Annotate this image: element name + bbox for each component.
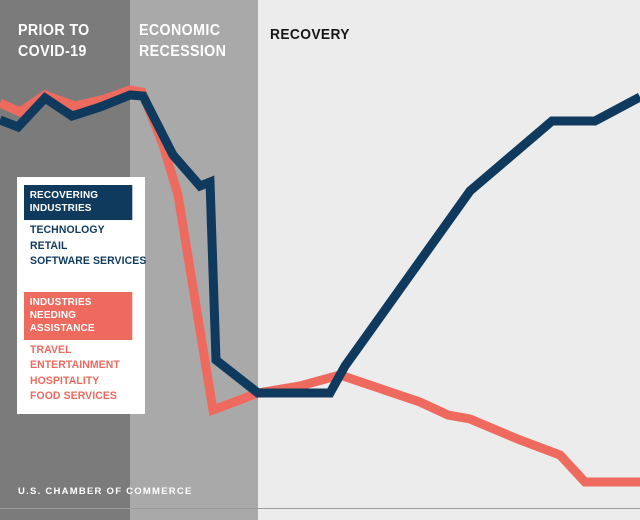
legend-item-hospitality: HOSPITALITY bbox=[30, 374, 133, 390]
legend-heading-industries-needing-assistance: INDUSTRIES NEEDING ASSISTANCE bbox=[24, 292, 132, 340]
legend-item-technology: TECHNOLOGY bbox=[30, 223, 133, 239]
legend-item-software-services: SOFTWARE SERVICES bbox=[30, 254, 133, 270]
legend-list-recovering-industries: TECHNOLOGY RETAIL SOFTWARE SERVICES bbox=[24, 220, 138, 270]
legend-item-travel: TRAVEL bbox=[30, 343, 133, 359]
baseline-rule bbox=[0, 508, 640, 509]
chart-canvas: PRIOR TO COVID-19 ECONOMIC RECESSION REC… bbox=[0, 0, 640, 520]
source-credit: U.S. CHAMBER OF COMMERCE bbox=[18, 486, 193, 497]
legend-heading-recovering-industries: RECOVERING INDUSTRIES bbox=[24, 185, 132, 220]
legend-list-industries-needing-assistance: TRAVEL ENTERTAINMENT HOSPITALITY FOOD SE… bbox=[24, 340, 138, 405]
legend-item-food-services: FOOD SERVICES bbox=[30, 389, 133, 405]
legend-item-retail: RETAIL bbox=[30, 239, 133, 255]
legend-spacer bbox=[24, 270, 138, 292]
legend: RECOVERING INDUSTRIES TECHNOLOGY RETAIL … bbox=[17, 177, 145, 414]
legend-item-entertainment: ENTERTAINMENT bbox=[30, 358, 133, 374]
